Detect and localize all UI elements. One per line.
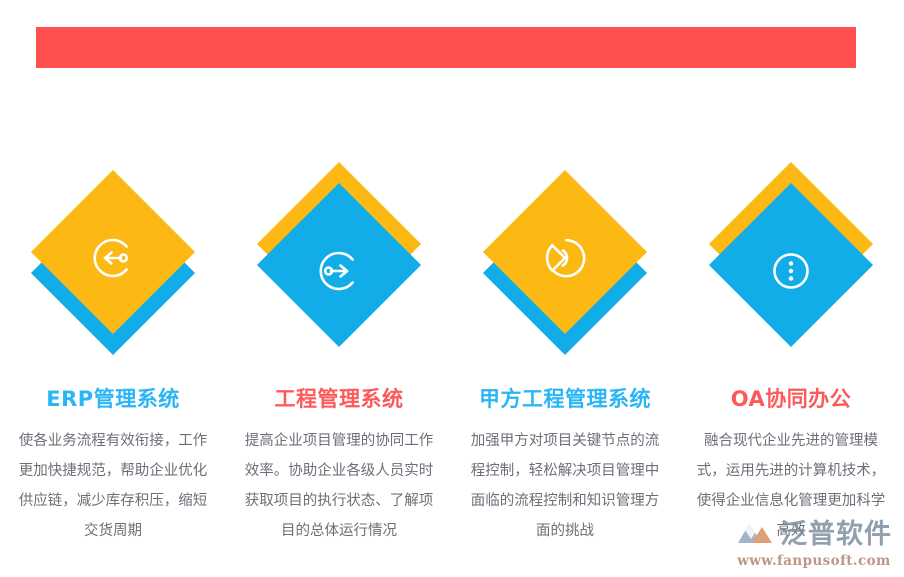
diamond-shape-front bbox=[257, 183, 421, 347]
watermark-url: www.fanpusoft.com bbox=[737, 553, 891, 569]
card-description: 提高企业项目管理的协同工作效率。协助企业各级人员实时获取项目的执行状态、了解项目… bbox=[239, 426, 439, 546]
diamond-shape-front bbox=[483, 170, 647, 334]
feature-card[interactable]: OA协同办公 融合现代企业先进的管理模式，运用先进的计算机技术，使得企业信息化管… bbox=[678, 170, 904, 546]
diamond-badge[interactable] bbox=[475, 170, 655, 365]
diamond-badge[interactable] bbox=[701, 170, 881, 365]
watermark: 泛普软件 www.fanpusoft.com bbox=[736, 516, 892, 569]
card-title: OA协同办公 bbox=[731, 387, 852, 412]
feature-card-row: ERP管理系统 使各业务流程有效衔接，工作更加快捷规范，帮助企业优化供应链，减少… bbox=[0, 170, 904, 546]
card-title: ERP管理系统 bbox=[46, 387, 179, 412]
fanpu-mountain-logo bbox=[736, 516, 776, 552]
card-title: 工程管理系统 bbox=[275, 387, 404, 412]
feature-card[interactable]: ERP管理系统 使各业务流程有效衔接，工作更加快捷规范，帮助企业优化供应链，减少… bbox=[0, 170, 226, 546]
diamond-badge[interactable] bbox=[23, 170, 203, 365]
watermark-brand-row: 泛普软件 bbox=[736, 516, 892, 552]
card-description: 加强甲方对项目关键节点的流程控制，轻松解决项目管理中面临的流程控制和知识管理方面… bbox=[465, 426, 665, 546]
diamond-shape-front bbox=[709, 183, 873, 347]
diamond-badge[interactable] bbox=[249, 170, 429, 365]
diamond-shape-front bbox=[31, 170, 195, 334]
top-red-banner bbox=[36, 27, 856, 68]
card-title: 甲方工程管理系统 bbox=[479, 387, 651, 412]
feature-card[interactable]: 甲方工程管理系统 加强甲方对项目关键节点的流程控制，轻松解决项目管理中面临的流程… bbox=[452, 170, 678, 546]
card-description: 使各业务流程有效衔接，工作更加快捷规范，帮助企业优化供应链，减少库存积压，缩短交… bbox=[13, 426, 213, 546]
feature-card[interactable]: 工程管理系统 提高企业项目管理的协同工作效率。协助企业各级人员实时获取项目的执行… bbox=[226, 170, 452, 546]
watermark-brand: 泛普软件 bbox=[780, 521, 892, 548]
